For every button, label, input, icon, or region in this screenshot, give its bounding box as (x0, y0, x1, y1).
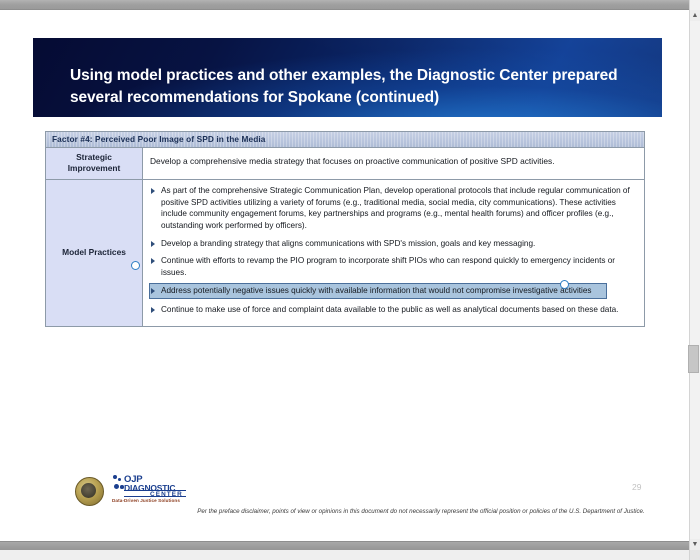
recommendations-table[interactable]: Factor #4: Perceived Poor Image of SPD i… (45, 131, 645, 327)
selection-handle-top-left[interactable] (131, 261, 140, 270)
logo-tagline: Data-Driven Justice Solutions (112, 498, 180, 503)
ojp-diagnostic-center-logo: OJP DIAGNOSTIC CENTER Data-Driven Justic… (110, 474, 190, 504)
model-practices-bullet-list: As part of the comprehensive Strategic C… (150, 185, 636, 316)
table-factor-header: Factor #4: Perceived Poor Image of SPD i… (46, 132, 644, 148)
row-label-strategic-improvement: Strategic Improvement (46, 148, 143, 179)
row-label-model-practices: Model Practices (46, 180, 143, 327)
scroll-up-arrow-icon[interactable]: ▲ (690, 10, 700, 21)
list-item-text: Continue with efforts to revamp the PIO … (161, 256, 615, 277)
list-item-text: Continue to make use of force and compla… (161, 305, 618, 314)
row-body-model-practices[interactable]: As part of the comprehensive Strategic C… (143, 180, 644, 327)
scrollbar-thumb[interactable] (688, 345, 699, 373)
list-item-selected[interactable]: Address potentially negative issues quic… (150, 284, 606, 298)
logo-text-center: CENTER (150, 491, 183, 498)
vertical-scrollbar[interactable] (689, 0, 700, 560)
row-label-line2: Improvement (68, 163, 121, 173)
row-label-line1: Strategic (76, 152, 112, 162)
list-item[interactable]: Continue to make use of force and compla… (150, 304, 636, 316)
doj-seal-inner (81, 483, 96, 498)
presentation-slide[interactable]: Using model practices and other examples… (0, 10, 690, 541)
slide-viewer: Using model practices and other examples… (0, 0, 700, 560)
logo-dot-icon (118, 478, 121, 481)
row-body-strategic-improvement: Develop a comprehensive media strategy t… (143, 148, 644, 179)
bullet-triangle-icon (151, 307, 155, 313)
list-item-text: Address potentially negative issues quic… (161, 286, 592, 295)
window-top-toolbar (0, 0, 690, 10)
list-item-text: As part of the comprehensive Strategic C… (161, 186, 630, 231)
list-item[interactable]: Develop a branding strategy that aligns … (150, 238, 636, 250)
list-item[interactable]: As part of the comprehensive Strategic C… (150, 185, 636, 233)
scroll-down-arrow-icon[interactable]: ▼ (690, 539, 700, 550)
logo-dot-icon (113, 475, 117, 479)
table-row-model-practices[interactable]: Model Practices As part of the comprehen… (46, 180, 644, 327)
footer-disclaimer: Per the preface disclaimer, points of vi… (176, 508, 666, 516)
list-item-text: Develop a branding strategy that aligns … (161, 239, 535, 248)
scrollbar-corner (690, 550, 700, 560)
list-item[interactable]: Continue with efforts to revamp the PIO … (150, 255, 636, 279)
table-factor-header-text: Factor #4: Perceived Poor Image of SPD i… (52, 134, 266, 144)
doj-seal-icon (75, 477, 104, 506)
bullet-triangle-icon (151, 288, 155, 294)
table-row-strategic-improvement[interactable]: Strategic Improvement Develop a comprehe… (46, 148, 644, 180)
logo-dot-icon (114, 484, 119, 489)
bullet-triangle-icon (151, 188, 155, 194)
slide-title: Using model practices and other examples… (70, 65, 640, 109)
window-bottom-strip (0, 550, 690, 560)
page-number: 29 (632, 482, 641, 492)
bullet-triangle-icon (151, 258, 155, 264)
slide-title-banner: Using model practices and other examples… (33, 38, 662, 117)
bullet-triangle-icon (151, 241, 155, 247)
selection-handle-bottom-right[interactable] (560, 280, 569, 289)
logo-dot-icon (120, 485, 124, 489)
